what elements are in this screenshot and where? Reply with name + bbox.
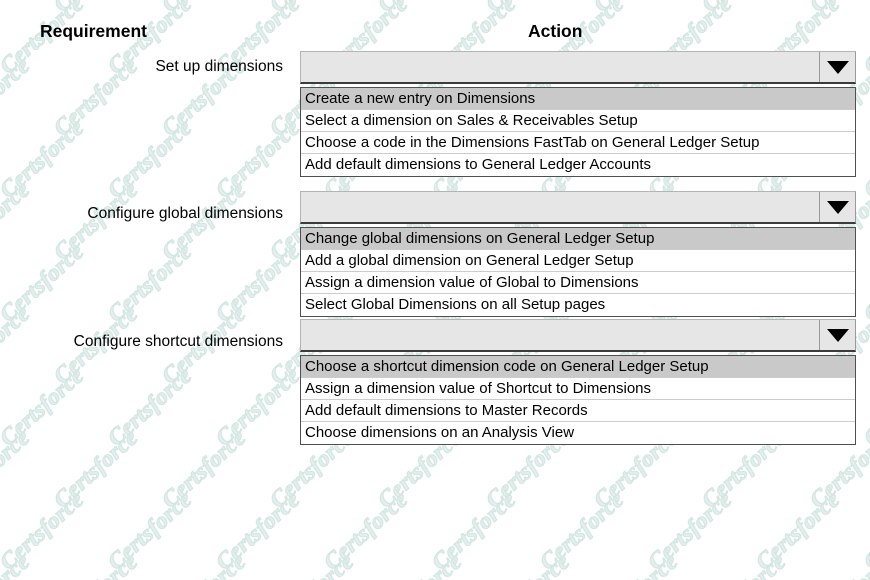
chevron-down-icon[interactable] (819, 320, 855, 350)
list-item[interactable]: Create a new entry on Dimensions (301, 88, 855, 110)
requirement-label-0: Set up dimensions (0, 58, 283, 76)
watermark-text: Certsforce (143, 534, 265, 580)
watermark-text: Certsforce (413, 472, 535, 580)
list-item[interactable]: Change global dimensions on General Ledg… (301, 228, 855, 250)
action-option-list-0[interactable]: Create a new entry on Dimensions Select … (300, 87, 856, 177)
chevron-down-icon[interactable] (819, 52, 855, 82)
list-item[interactable]: Add a global dimension on General Ledger… (301, 250, 855, 272)
watermark-text: Certsforce (629, 472, 751, 580)
watermark-text: Certsforce (305, 472, 427, 580)
column-header-action: Action (528, 21, 582, 42)
action-dropdown-0: Create a new entry on Dimensions Select … (300, 51, 856, 177)
list-item[interactable]: Choose a code in the Dimensions FastTab … (301, 132, 855, 154)
watermark-text: Certsforce (467, 534, 589, 580)
chevron-down-icon[interactable] (819, 192, 855, 222)
action-combobox-1[interactable] (300, 191, 856, 224)
list-item[interactable]: Assign a dimension value of Shortcut to … (301, 378, 855, 400)
action-option-list-1[interactable]: Change global dimensions on General Ledg… (300, 227, 856, 317)
list-item[interactable]: Add default dimensions to Master Records (301, 400, 855, 422)
requirement-label-1: Configure global dimensions (0, 205, 283, 223)
watermark-text: Certsforce (197, 472, 319, 580)
watermark-text: Certsforce (521, 472, 643, 580)
action-dropdown-1: Change global dimensions on General Ledg… (300, 191, 856, 317)
requirement-label-2: Configure shortcut dimensions (0, 333, 283, 351)
list-item[interactable]: Choose a shortcut dimension code on Gene… (301, 356, 855, 378)
list-item[interactable]: Select Global Dimensions on all Setup pa… (301, 294, 855, 316)
watermark-text: Certsforce (683, 534, 805, 580)
watermark-text: Certsforce (0, 534, 49, 580)
action-dropdown-2: Choose a shortcut dimension code on Gene… (300, 319, 856, 445)
list-item[interactable]: Select a dimension on Sales & Receivable… (301, 110, 855, 132)
action-combobox-0[interactable] (300, 51, 856, 84)
watermark-text: Certsforce (845, 472, 870, 580)
watermark-text: Certsforce (359, 534, 481, 580)
question-matching-panel: Requirement Action Set up dimensions Cre… (0, 0, 870, 447)
watermark-text: Certsforce (575, 534, 697, 580)
list-item[interactable]: Choose dimensions on an Analysis View (301, 422, 855, 444)
action-option-list-2[interactable]: Choose a shortcut dimension code on Gene… (300, 355, 856, 445)
list-item[interactable]: Assign a dimension value of Global to Di… (301, 272, 855, 294)
column-header-requirement: Requirement (40, 21, 147, 42)
watermark-text: Certsforce (0, 472, 103, 580)
list-item[interactable]: Add default dimensions to General Ledger… (301, 154, 855, 176)
watermark-text: Certsforce (251, 534, 373, 580)
watermark-text: Certsforce (791, 534, 870, 580)
watermark-text: Certsforce (35, 534, 157, 580)
action-combobox-2[interactable] (300, 319, 856, 352)
watermark-text: Certsforce (737, 472, 859, 580)
watermark-text: Certsforce (89, 472, 211, 580)
